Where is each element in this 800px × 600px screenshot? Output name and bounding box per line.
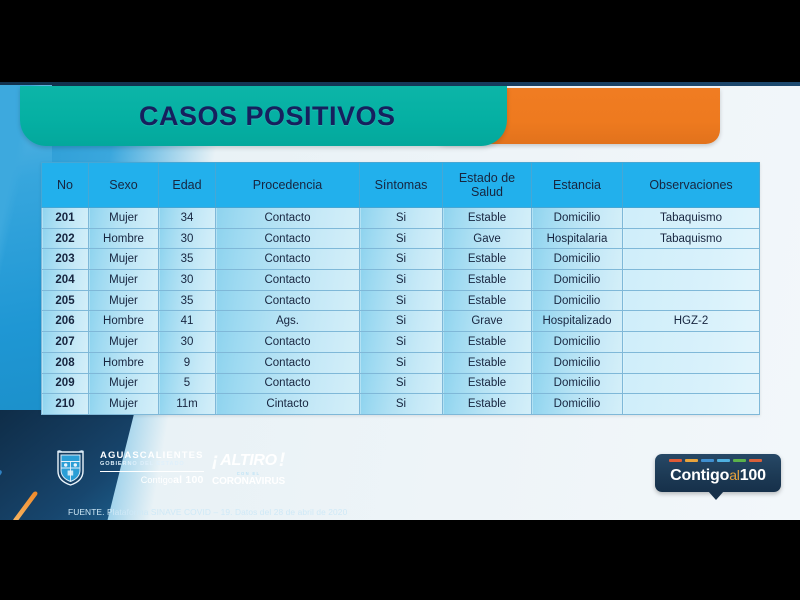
cell-estado: Grave — [443, 311, 532, 332]
table-row: 205Mujer35ContactoSiEstableDomicilio — [42, 290, 760, 311]
cell-sexo: Mujer — [89, 249, 159, 270]
cell-estado: Gave — [443, 228, 532, 249]
cell-procedencia: Cintacto — [216, 394, 360, 415]
badge-pointer-tail — [708, 491, 724, 500]
wedge-orange-streak — [12, 491, 38, 520]
cell-estancia: Domicilio — [532, 290, 623, 311]
exclamation-close-icon: ! — [279, 450, 285, 472]
cell-edad: 11m — [159, 394, 216, 415]
cell-estado: Estable — [443, 270, 532, 291]
teal-title-banner: CASOS POSITIVOS — [20, 86, 507, 146]
badge-hundred: 100 — [740, 467, 766, 484]
table-row: 202Hombre30ContactoSiGaveHospitalariaTab… — [42, 228, 760, 249]
cell-estado: Estable — [443, 249, 532, 270]
table-row: 209Mujer5ContactoSiEstableDomicilio — [42, 373, 760, 394]
cell-observaciones: Tabaquismo — [623, 208, 760, 229]
cell-procedencia: Contacto — [216, 290, 360, 311]
cell-sintomas: Si — [360, 332, 443, 353]
cell-no: 206 — [42, 311, 89, 332]
cell-observaciones — [623, 332, 760, 353]
badge-label: Contigoal100 — [670, 467, 766, 485]
cell-procedencia: Contacto — [216, 270, 360, 291]
page-title: CASOS POSITIVOS — [139, 101, 396, 132]
column-header-no: No — [42, 163, 89, 208]
cell-procedencia: Contacto — [216, 249, 360, 270]
altiro-bottom-text: CORONAVIRUS — [212, 476, 285, 487]
aguascalientes-coat-of-arms-icon — [55, 449, 86, 487]
column-header-edad: Edad — [159, 163, 216, 208]
cell-sexo: Hombre — [89, 352, 159, 373]
cell-edad: 41 — [159, 311, 216, 332]
table-row: 204Mujer30ContactoSiEstableDomicilio — [42, 270, 760, 291]
cell-estancia: Domicilio — [532, 270, 623, 291]
tagline-bold: al 100 — [173, 474, 203, 486]
government-tagline: Contigoal 100 — [100, 475, 204, 486]
aguascalientes-wordmark: AGUASCALIENTES GOBIERNO DEL ESTADO Conti… — [100, 451, 204, 485]
cell-procedencia: Contacto — [216, 352, 360, 373]
badge-dash — [749, 459, 762, 462]
government-name: AGUASCALIENTES — [100, 451, 204, 461]
cell-estado: Estable — [443, 373, 532, 394]
cell-no: 210 — [42, 394, 89, 415]
cell-edad: 30 — [159, 270, 216, 291]
badge-dash — [717, 459, 730, 462]
altiro-word: ALTIRO — [220, 452, 277, 470]
cell-edad: 35 — [159, 249, 216, 270]
table-row: 208Hombre9ContactoSiEstableDomicilio — [42, 352, 760, 373]
cell-observaciones — [623, 249, 760, 270]
table-row: 203Mujer35ContactoSiEstableDomicilio — [42, 249, 760, 270]
cell-sintomas: Si — [360, 352, 443, 373]
column-header-observaciones: Observaciones — [623, 163, 760, 208]
cell-procedencia: Contacto — [216, 208, 360, 229]
cell-procedencia: Contacto — [216, 373, 360, 394]
divider — [100, 471, 204, 472]
cell-sintomas: Si — [360, 394, 443, 415]
column-header-procedencia: Procedencia — [216, 163, 360, 208]
cell-procedencia: Contacto — [216, 332, 360, 353]
table-body: 201Mujer34ContactoSiEstableDomicilioTaba… — [42, 208, 760, 415]
cell-edad: 30 — [159, 228, 216, 249]
badge-dash — [733, 459, 746, 462]
cell-estancia: Domicilio — [532, 373, 623, 394]
cell-sexo: Mujer — [89, 332, 159, 353]
cell-observaciones — [623, 373, 760, 394]
column-header-estancia: Estancia — [532, 163, 623, 208]
tagline-lite: Contigo — [141, 475, 173, 485]
table-row: 207Mujer30ContactoSiEstableDomicilio — [42, 332, 760, 353]
table-row: 206Hombre41Ags.SiGraveHospitalizadoHGZ-2 — [42, 311, 760, 332]
table-header-row: No Sexo Edad Procedencia Síntomas Estado… — [42, 163, 760, 208]
column-header-sintomas: Síntomas — [360, 163, 443, 208]
cell-edad: 9 — [159, 352, 216, 373]
cell-estancia: Domicilio — [532, 208, 623, 229]
slide-screenshot: CASOS POSITIVOS No Sexo Edad Procedencia… — [0, 0, 800, 600]
cell-no: 208 — [42, 352, 89, 373]
table-row: 201Mujer34ContactoSiEstableDomicilioTaba… — [42, 208, 760, 229]
cell-sexo: Mujer — [89, 394, 159, 415]
cell-edad: 35 — [159, 290, 216, 311]
cell-estancia: Hospitalizado — [532, 311, 623, 332]
cell-sexo: Mujer — [89, 373, 159, 394]
cell-sintomas: Si — [360, 249, 443, 270]
cell-no: 205 — [42, 290, 89, 311]
slide-canvas: CASOS POSITIVOS No Sexo Edad Procedencia… — [0, 82, 800, 520]
column-header-estado-salud: Estado de Salud — [443, 163, 532, 208]
badge-dash — [685, 459, 698, 462]
cell-sexo: Hombre — [89, 311, 159, 332]
badge-dash — [701, 459, 714, 462]
cell-sintomas: Si — [360, 270, 443, 291]
cell-estancia: Domicilio — [532, 352, 623, 373]
cell-no: 204 — [42, 270, 89, 291]
badge-al: al — [729, 467, 740, 483]
cell-no: 203 — [42, 249, 89, 270]
footer-logo-group: AGUASCALIENTES GOBIERNO DEL ESTADO Conti… — [55, 448, 280, 488]
cell-no: 207 — [42, 332, 89, 353]
cell-sintomas: Si — [360, 290, 443, 311]
government-subtitle: GOBIERNO DEL ESTADO — [100, 462, 204, 468]
cell-estancia: Domicilio — [532, 249, 623, 270]
contigo-al-100-badge: Contigoal100 — [655, 454, 781, 492]
cell-estado: Estable — [443, 208, 532, 229]
cell-sintomas: Si — [360, 228, 443, 249]
cell-estancia: Domicilio — [532, 332, 623, 353]
cell-edad: 34 — [159, 208, 216, 229]
cell-procedencia: Ags. — [216, 311, 360, 332]
cell-observaciones — [623, 290, 760, 311]
cell-sexo: Hombre — [89, 228, 159, 249]
exclamation-open-icon: ¡ — [212, 450, 218, 472]
cell-estado: Estable — [443, 332, 532, 353]
cell-sintomas: Si — [360, 373, 443, 394]
cell-estancia: Hospitalaria — [532, 228, 623, 249]
cases-table-container: No Sexo Edad Procedencia Síntomas Estado… — [41, 162, 759, 415]
badge-color-dashes — [669, 459, 762, 462]
cell-sexo: Mujer — [89, 270, 159, 291]
cell-estancia: Domicilio — [532, 394, 623, 415]
cell-sintomas: Si — [360, 208, 443, 229]
cell-sexo: Mujer — [89, 208, 159, 229]
cell-observaciones — [623, 270, 760, 291]
cell-procedencia: Contacto — [216, 228, 360, 249]
cell-no: 202 — [42, 228, 89, 249]
column-header-sexo: Sexo — [89, 163, 159, 208]
badge-contigo: Contigo — [670, 467, 729, 484]
cell-observaciones — [623, 394, 760, 415]
cell-estado: Estable — [443, 394, 532, 415]
cell-sintomas: Si — [360, 311, 443, 332]
cell-edad: 30 — [159, 332, 216, 353]
cell-no: 209 — [42, 373, 89, 394]
cell-no: 201 — [42, 208, 89, 229]
positive-cases-table: No Sexo Edad Procedencia Síntomas Estado… — [41, 162, 760, 415]
cell-observaciones: HGZ-2 — [623, 311, 760, 332]
altiro-campaign-logo: ¡ ALTIRO ! CON EL CORONAVIRUS — [218, 448, 280, 488]
wedge-blue-streak — [0, 469, 3, 514]
cell-edad: 5 — [159, 373, 216, 394]
cell-observaciones — [623, 352, 760, 373]
cell-sexo: Mujer — [89, 290, 159, 311]
table-row: 210Mujer11mCintactoSiEstableDomicilio — [42, 394, 760, 415]
source-note: FUENTE. Plataforma SINAVE COVID – 19. Da… — [68, 507, 347, 517]
cell-observaciones: Tabaquismo — [623, 228, 760, 249]
altiro-title-row: ¡ ALTIRO ! — [212, 450, 285, 472]
cell-estado: Estable — [443, 290, 532, 311]
badge-dash — [669, 459, 682, 462]
cell-estado: Estable — [443, 352, 532, 373]
